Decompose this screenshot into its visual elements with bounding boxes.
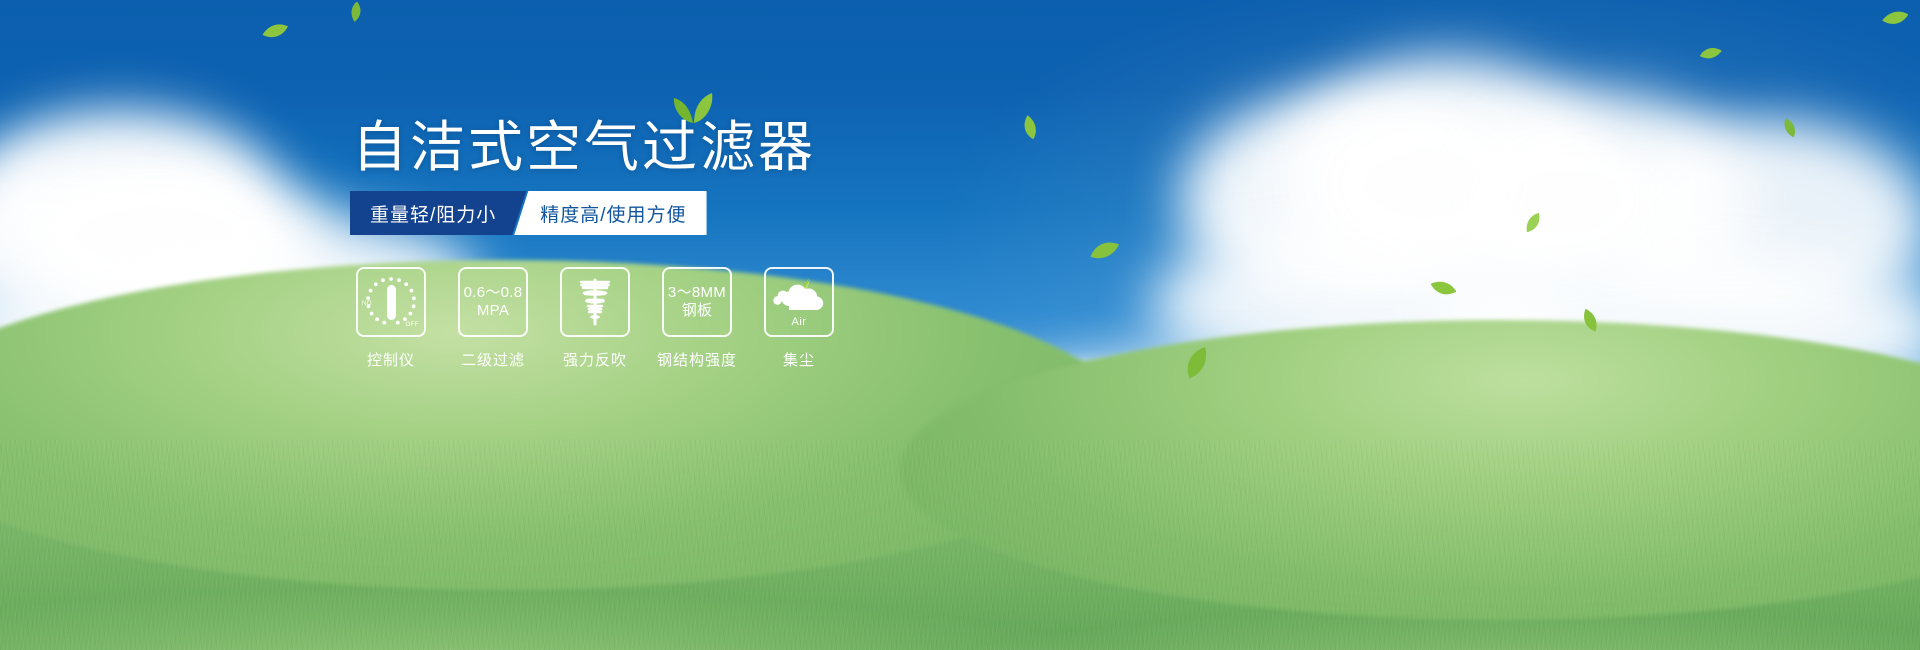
feature-item-dust-collection[interactable]: Air 集尘 — [760, 267, 838, 370]
feature-box: 0.6～0.8 MPA — [458, 267, 528, 337]
feature-caption: 钢结构强度 — [657, 349, 737, 370]
feature-box — [560, 267, 630, 337]
feature-item-steel[interactable]: 3～8MM 钢板 钢结构强度 — [658, 267, 736, 370]
steel-plate-text-icon: 3～8MM 钢板 — [668, 284, 726, 320]
feature-caption: 集尘 — [783, 349, 815, 370]
feature-caption: 二级过滤 — [461, 349, 525, 370]
feature-caption: 控制仪 — [367, 349, 415, 370]
dial-handle — [387, 285, 396, 320]
feature-box: 3～8MM 钢板 — [662, 267, 732, 337]
dial-label-off: OFF — [406, 322, 420, 328]
feature-item-blowback[interactable]: 强力反吹 — [556, 267, 634, 370]
control-dial-icon: NO OFF — [363, 274, 419, 330]
tab-high-precision-easy-use[interactable]: 精度高/使用方便 — [514, 191, 706, 235]
hero-banner: 自洁式空气过滤器 重量轻/阻力小 精度高/使用方便 — [0, 0, 1920, 650]
feature-caption: 强力反吹 — [563, 349, 627, 370]
title-leaf-icon — [672, 92, 718, 124]
feature-item-filtration[interactable]: 0.6～0.8 MPA 二级过滤 — [454, 267, 532, 370]
feature-box: NO OFF — [356, 267, 426, 337]
pressure-text-icon: 0.6～0.8 MPA — [464, 284, 523, 320]
cloud-air-icon — [769, 276, 829, 320]
feature-box: Air — [764, 267, 834, 337]
feature-item-control[interactable]: NO OFF 控制仪 — [352, 267, 430, 370]
tab-lightweight-low-resistance[interactable]: 重量轻/阻力小 — [350, 191, 526, 235]
banner-content: 自洁式空气过滤器 重量轻/阻力小 精度高/使用方便 — [0, 0, 1920, 650]
air-badge-label: Air — [766, 316, 832, 328]
feature-icon-list: NO OFF 控制仪 0.6～0.8 MPA 二级过滤 — [352, 267, 838, 370]
feature-tab-bar: 重量轻/阻力小 精度高/使用方便 — [350, 191, 707, 235]
page-title: 自洁式空气过滤器 — [352, 116, 816, 178]
blowback-coil-icon — [572, 276, 618, 328]
dial-label-on: NO — [362, 301, 372, 307]
